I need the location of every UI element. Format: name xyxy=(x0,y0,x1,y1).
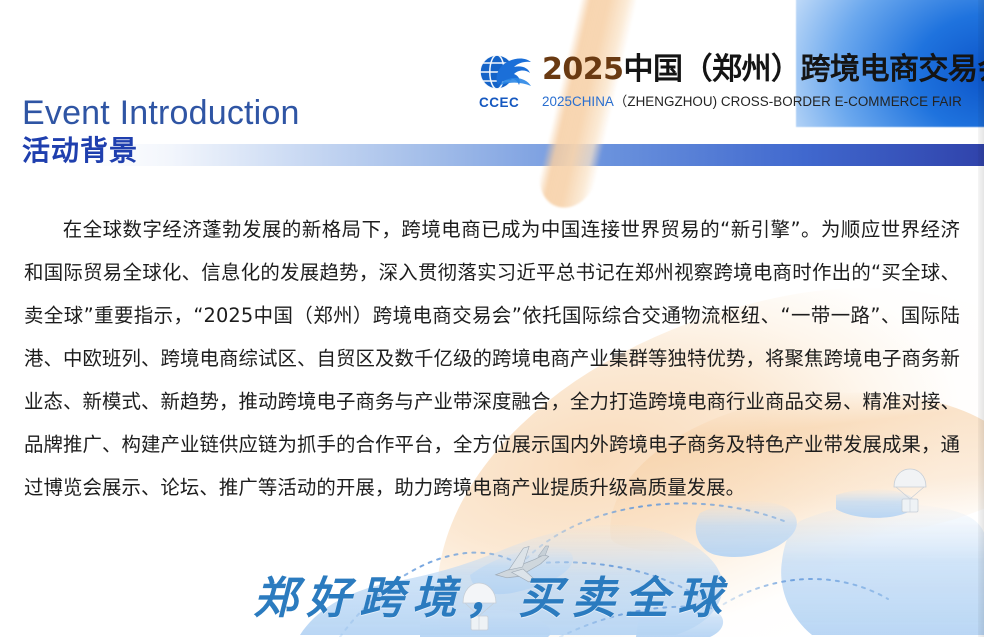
ccec-logo-mark: CCEC xyxy=(478,52,534,110)
logo-title-rest: 中国（郑州）跨境电商交易会 xyxy=(624,52,984,87)
ccec-wordmark: CCEC xyxy=(479,95,519,110)
logo-subtitle-year: 2025CHINA xyxy=(542,94,614,109)
page-title-english: Event Introduction xyxy=(22,96,300,132)
page-title-chinese: 活动背景 xyxy=(22,136,300,167)
logo-title-year: 2025 xyxy=(542,52,624,87)
logo-subtitle-rest: （ZHENGZHOU) CROSS-BORDER E-COMMERCE FAIR xyxy=(614,94,962,109)
body-paragraph: 在全球数字经济蓬勃发展的新格局下，跨境电商已成为中国连接世界贸易的“新引擎”。为… xyxy=(24,208,960,509)
slide-canvas: CCEC 2025中国（郑州）跨境电商交易会 2025CHINA（ZHENGZH… xyxy=(0,0,984,637)
event-slogan: 郑好跨境，买卖全球 xyxy=(0,562,984,626)
globe-swoosh-icon xyxy=(478,52,534,96)
logo-title-chinese: 2025中国（郑州）跨境电商交易会 xyxy=(542,53,984,87)
logo-text-block: 2025中国（郑州）跨境电商交易会 2025CHINA（ZHENGZHOU) C… xyxy=(542,52,984,110)
event-logo-lockup: CCEC 2025中国（郑州）跨境电商交易会 2025CHINA（ZHENGZH… xyxy=(478,52,984,110)
section-heading: Event Introduction 活动背景 xyxy=(22,96,300,166)
page-edge-shadow xyxy=(978,0,984,637)
logo-subtitle-english: 2025CHINA（ZHENGZHOU) CROSS-BORDER E-COMM… xyxy=(542,90,984,110)
